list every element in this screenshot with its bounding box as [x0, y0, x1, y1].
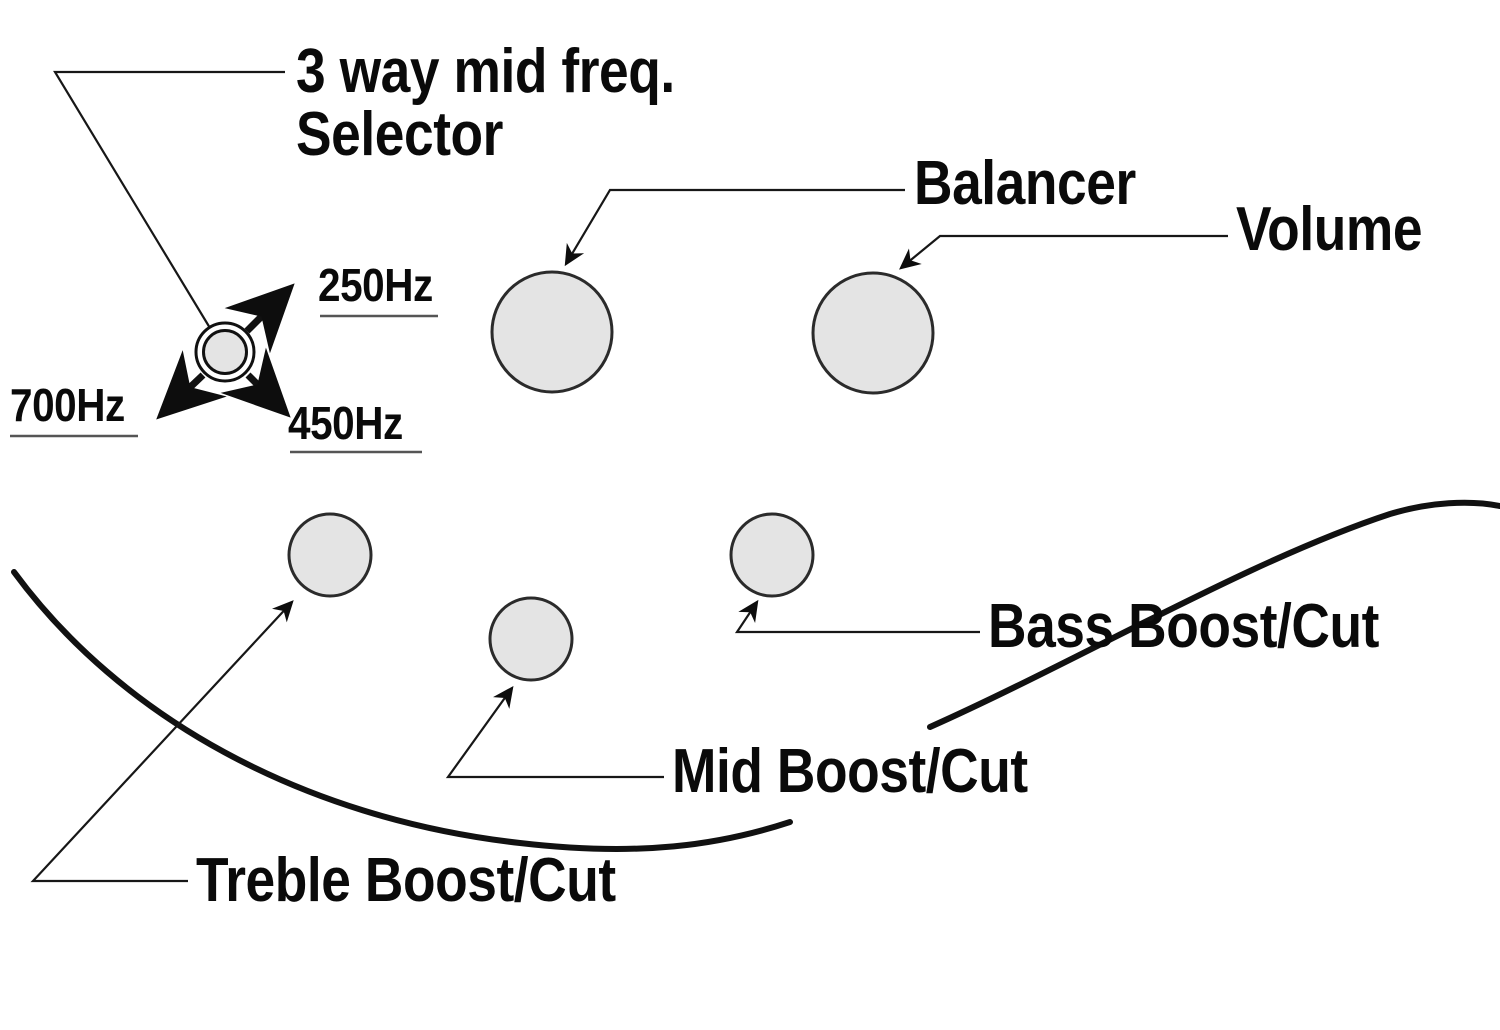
leader-bass-line	[737, 602, 980, 632]
treble-knob[interactable]	[289, 514, 371, 596]
body-curve-lower-left	[14, 572, 790, 849]
leader-bass	[737, 602, 980, 632]
leader-mid-line	[448, 688, 664, 777]
freq-450hz-label: 450Hz	[288, 400, 403, 447]
leader-selector-line	[55, 72, 285, 333]
leader-mid	[448, 688, 664, 777]
volume-knob[interactable]	[813, 273, 933, 393]
mid-knob[interactable]	[490, 598, 572, 680]
arrow-to-450hz	[248, 375, 285, 412]
mid-boost-cut-label: Mid Boost/Cut	[672, 740, 1028, 803]
leader-treble	[33, 602, 292, 881]
control-knobs	[289, 272, 933, 680]
leader-volume	[901, 236, 1228, 268]
leader-volume-line	[901, 236, 1228, 268]
treble-boost-cut-label: Treble Boost/Cut	[196, 849, 616, 912]
bass-knob[interactable]	[731, 514, 813, 596]
leader-selector	[55, 72, 285, 333]
selector-inner-knob[interactable]	[204, 331, 247, 374]
volume-label: Volume	[1236, 198, 1422, 261]
balancer-knob[interactable]	[492, 272, 612, 392]
freq-250hz-label: 250Hz	[318, 262, 433, 309]
selector-label-line2: Selector	[296, 100, 503, 169]
diagram-canvas: 3 way mid freq.Selector Balancer Volume …	[0, 0, 1500, 1030]
bass-boost-cut-label: Bass Boost/Cut	[988, 595, 1379, 658]
leader-treble-line	[33, 602, 292, 881]
leader-balancer-line	[566, 190, 905, 264]
mid-freq-selector[interactable]	[196, 323, 254, 381]
freq-700hz-label: 700Hz	[10, 382, 125, 429]
selector-label: 3 way mid freq.Selector	[296, 40, 675, 166]
arrow-to-700hz	[162, 375, 203, 414]
leader-balancer	[566, 190, 905, 264]
selector-label-line1: 3 way mid freq.	[296, 37, 675, 106]
balancer-label: Balancer	[914, 152, 1136, 215]
arrow-to-250hz	[247, 289, 289, 331]
